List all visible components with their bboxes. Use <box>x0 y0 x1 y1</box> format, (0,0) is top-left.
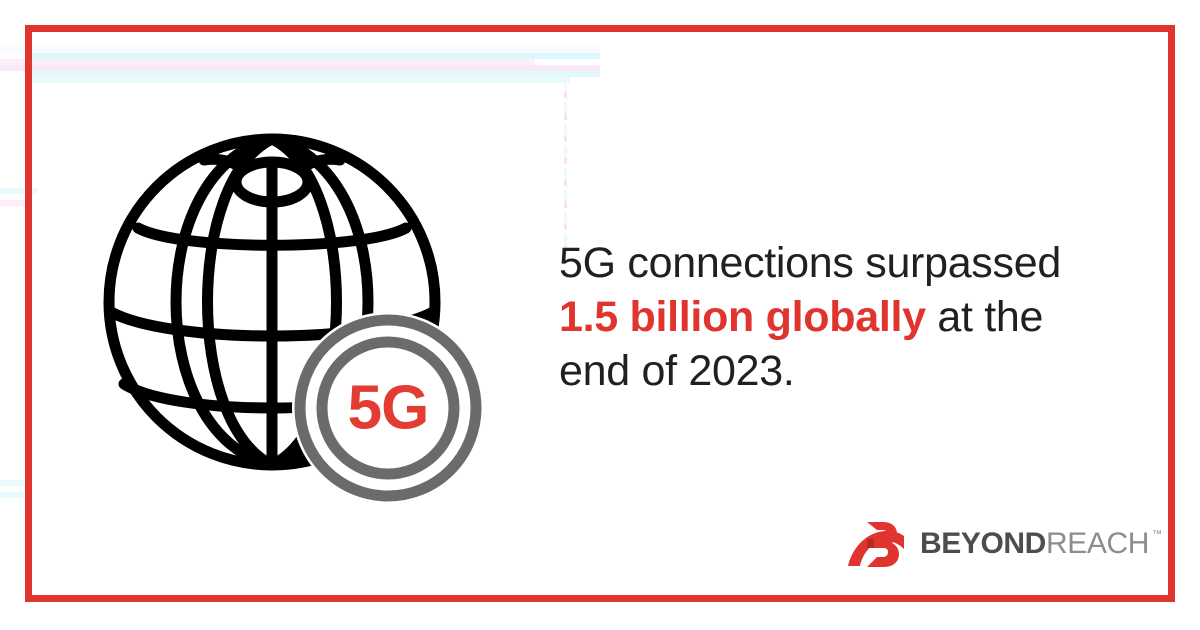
globe-icon <box>100 120 490 505</box>
beyondreach-logo-mark-icon <box>847 519 905 569</box>
scanline-artifact <box>0 492 26 498</box>
headline-lead: 5G connections surpassed <box>559 239 1061 287</box>
brand-name-bold: BEYOND <box>920 527 1046 561</box>
headline-text: 5G connections surpassed 1.5 billion glo… <box>559 236 1119 398</box>
brand-name-light: REACH <box>1046 527 1149 561</box>
headline-highlight: 1.5 billion globally <box>559 293 926 341</box>
trademark-symbol: ™ <box>1152 529 1162 540</box>
infographic-card: 5G 5G connections surpassed 1.5 billion … <box>0 0 1200 630</box>
brand-wordmark: BEYONDREACH™ <box>920 527 1162 561</box>
globe-5g-illustration: 5G <box>100 120 490 505</box>
brand-lockup: BEYONDREACH™ <box>847 518 1162 570</box>
